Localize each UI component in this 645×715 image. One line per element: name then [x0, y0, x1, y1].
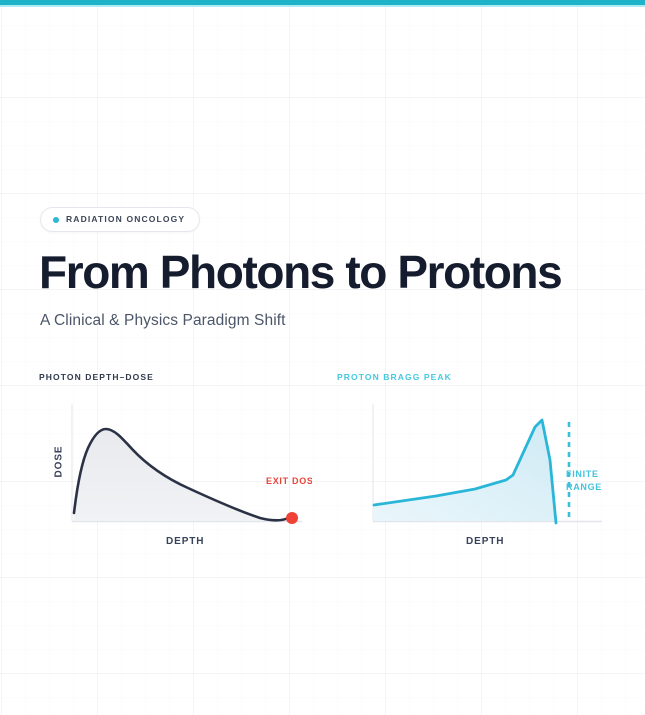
- proton-x-axis-label: DEPTH: [466, 536, 504, 547]
- photon-x-axis-label: DEPTH: [166, 536, 204, 547]
- exit-dose-marker-dot: [286, 512, 298, 524]
- page-title: From Photons to Protons: [39, 248, 561, 298]
- proton-panel-caption: PROTON BRAGG PEAK: [337, 372, 452, 382]
- finite-range-annotation-line1: FINITE: [566, 468, 602, 481]
- badge-label: RADIATION ONCOLOGY: [66, 215, 185, 224]
- category-badge[interactable]: RADIATION ONCOLOGY: [40, 207, 200, 232]
- finite-range-annotation: FINITE RANGE: [566, 468, 602, 494]
- photon-y-axis-label: DOSE: [53, 446, 64, 478]
- photon-depth-dose-chart: [36, 400, 321, 550]
- page-subtitle: A Clinical & Physics Paradigm Shift: [40, 312, 286, 330]
- top-accent-bar: [0, 0, 645, 6]
- photon-chart-svg: [36, 400, 321, 550]
- photon-panel-caption: PHOTON DEPTH–DOSE: [39, 372, 154, 382]
- exit-dose-annotation: EXIT DOS: [266, 476, 312, 486]
- finite-range-annotation-line2: RANGE: [566, 481, 602, 494]
- top-accent-bar-secondary: [0, 5, 645, 7]
- photon-area-fill: [74, 429, 288, 521]
- badge-dot-icon: [53, 217, 59, 223]
- proton-area-fill: [374, 420, 556, 521]
- background-grid: [0, 0, 645, 715]
